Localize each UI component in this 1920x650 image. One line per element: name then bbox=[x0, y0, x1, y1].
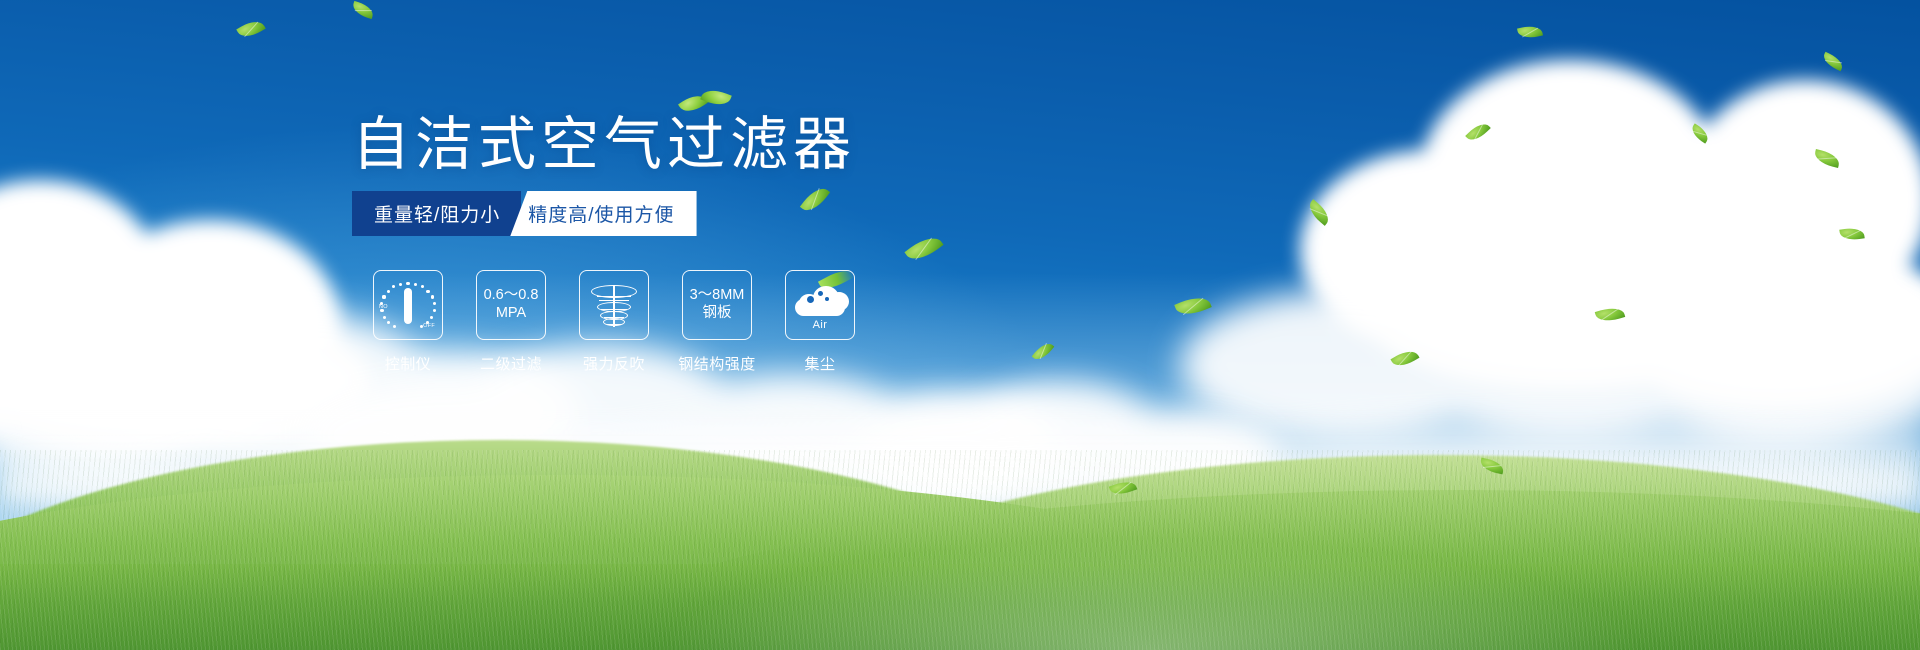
air-cloud-label: Air bbox=[791, 319, 849, 331]
air-cloud-icon: Air bbox=[791, 280, 849, 330]
feature-item-controller[interactable]: NO OFF 控制仪 bbox=[357, 270, 459, 374]
feature-item-two-stage-filter[interactable]: 0.6〜0.8 MPA 二级过滤 bbox=[460, 270, 562, 374]
feature-box: 3〜8MM 钢板 bbox=[682, 270, 752, 340]
feature-label: 控制仪 bbox=[385, 353, 432, 374]
badge-high-precision-easy-use[interactable]: 精度高/使用方便 bbox=[510, 191, 696, 236]
feature-box: NO OFF bbox=[373, 270, 443, 340]
feature-box-line1: 3〜8MM bbox=[690, 287, 745, 305]
feature-label: 钢结构强度 bbox=[678, 353, 756, 374]
feature-box bbox=[579, 270, 649, 340]
feature-box-line2: MPA bbox=[496, 305, 526, 323]
gauge-icon: NO OFF bbox=[380, 279, 436, 331]
feature-box-line2: 钢板 bbox=[703, 305, 732, 323]
leaf-icon bbox=[700, 85, 732, 109]
feature-label: 二级过滤 bbox=[480, 353, 542, 374]
banner-content: 自洁式空气过滤器 重量轻/阻力小 精度高/使用方便 bbox=[0, 0, 1920, 650]
feature-box: 0.6〜0.8 MPA bbox=[476, 270, 546, 340]
feature-item-steel-strength[interactable]: 3〜8MM 钢板 钢结构强度 bbox=[666, 270, 768, 374]
gauge-label-no: NO bbox=[379, 304, 388, 310]
feature-label: 强力反吹 bbox=[583, 353, 645, 374]
product-hero-banner: 自洁式空气过滤器 重量轻/阻力小 精度高/使用方便 bbox=[0, 0, 1920, 650]
feature-label: 集尘 bbox=[804, 353, 835, 374]
feature-icon-row: NO OFF 控制仪 0.6〜0.8 MPA 二级过滤 bbox=[357, 270, 872, 374]
feature-badge-group: 重量轻/阻力小 精度高/使用方便 bbox=[352, 191, 697, 236]
feature-item-strong-blowback[interactable]: 强力反吹 bbox=[563, 270, 665, 374]
page-title: 自洁式空气过滤器 bbox=[352, 116, 856, 174]
coil-blowback-icon bbox=[588, 279, 640, 331]
gauge-label-off: OFF bbox=[423, 323, 435, 329]
gauge-needle bbox=[404, 288, 412, 324]
feature-box-line1: 0.6〜0.8 bbox=[484, 287, 539, 305]
feature-item-dust-collection[interactable]: Air 集尘 bbox=[769, 270, 871, 374]
badge-lightweight-low-resistance[interactable]: 重量轻/阻力小 bbox=[352, 191, 521, 236]
feature-box: Air bbox=[785, 270, 855, 340]
